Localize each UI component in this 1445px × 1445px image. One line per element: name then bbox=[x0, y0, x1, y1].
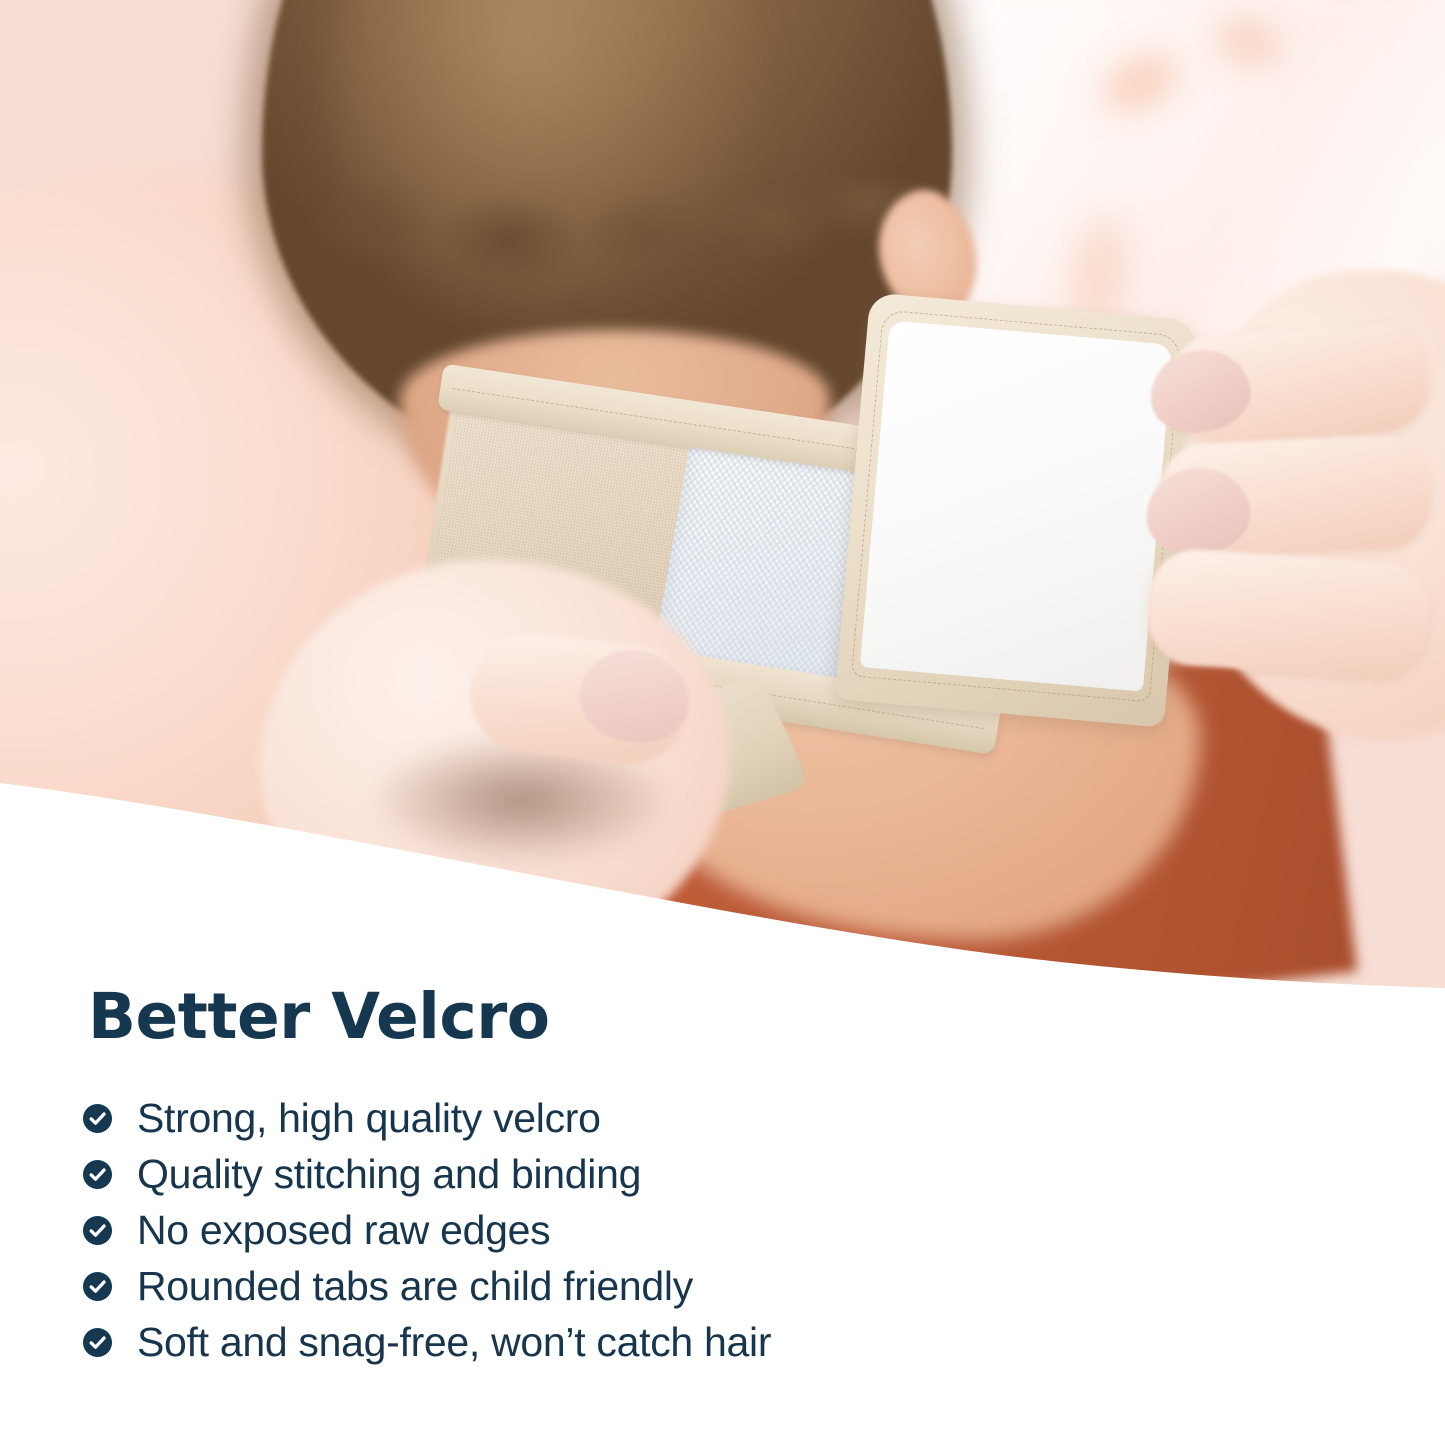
list-item: Rounded tabs are child friendly bbox=[82, 1258, 771, 1314]
check-circle-icon bbox=[82, 1159, 113, 1190]
list-item-label: No exposed raw edges bbox=[137, 1210, 550, 1251]
list-item-label: Quality stitching and binding bbox=[137, 1154, 641, 1195]
check-circle-icon bbox=[82, 1327, 113, 1358]
feature-list: Strong, high quality velcro Quality stit… bbox=[82, 1090, 771, 1370]
list-item: Soft and snag-free, won’t catch hair bbox=[82, 1314, 771, 1370]
check-circle-icon bbox=[82, 1215, 113, 1246]
feature-content-panel: Better Velcro Strong, high quality velcr… bbox=[0, 975, 1445, 1445]
product-photo bbox=[0, 0, 1445, 1000]
list-item: Strong, high quality velcro bbox=[82, 1090, 771, 1146]
list-item-label: Soft and snag-free, won’t catch hair bbox=[137, 1322, 771, 1363]
list-item: No exposed raw edges bbox=[82, 1202, 771, 1258]
check-circle-icon bbox=[82, 1103, 113, 1134]
product-feature-infographic: Better Velcro Strong, high quality velcr… bbox=[0, 0, 1445, 1445]
check-circle-icon bbox=[82, 1271, 113, 1302]
finger bbox=[1144, 546, 1431, 681]
page-title: Better Velcro bbox=[88, 980, 550, 1053]
list-item: Quality stitching and binding bbox=[82, 1146, 771, 1202]
list-item-label: Rounded tabs are child friendly bbox=[137, 1266, 693, 1307]
list-item-label: Strong, high quality velcro bbox=[137, 1098, 601, 1139]
